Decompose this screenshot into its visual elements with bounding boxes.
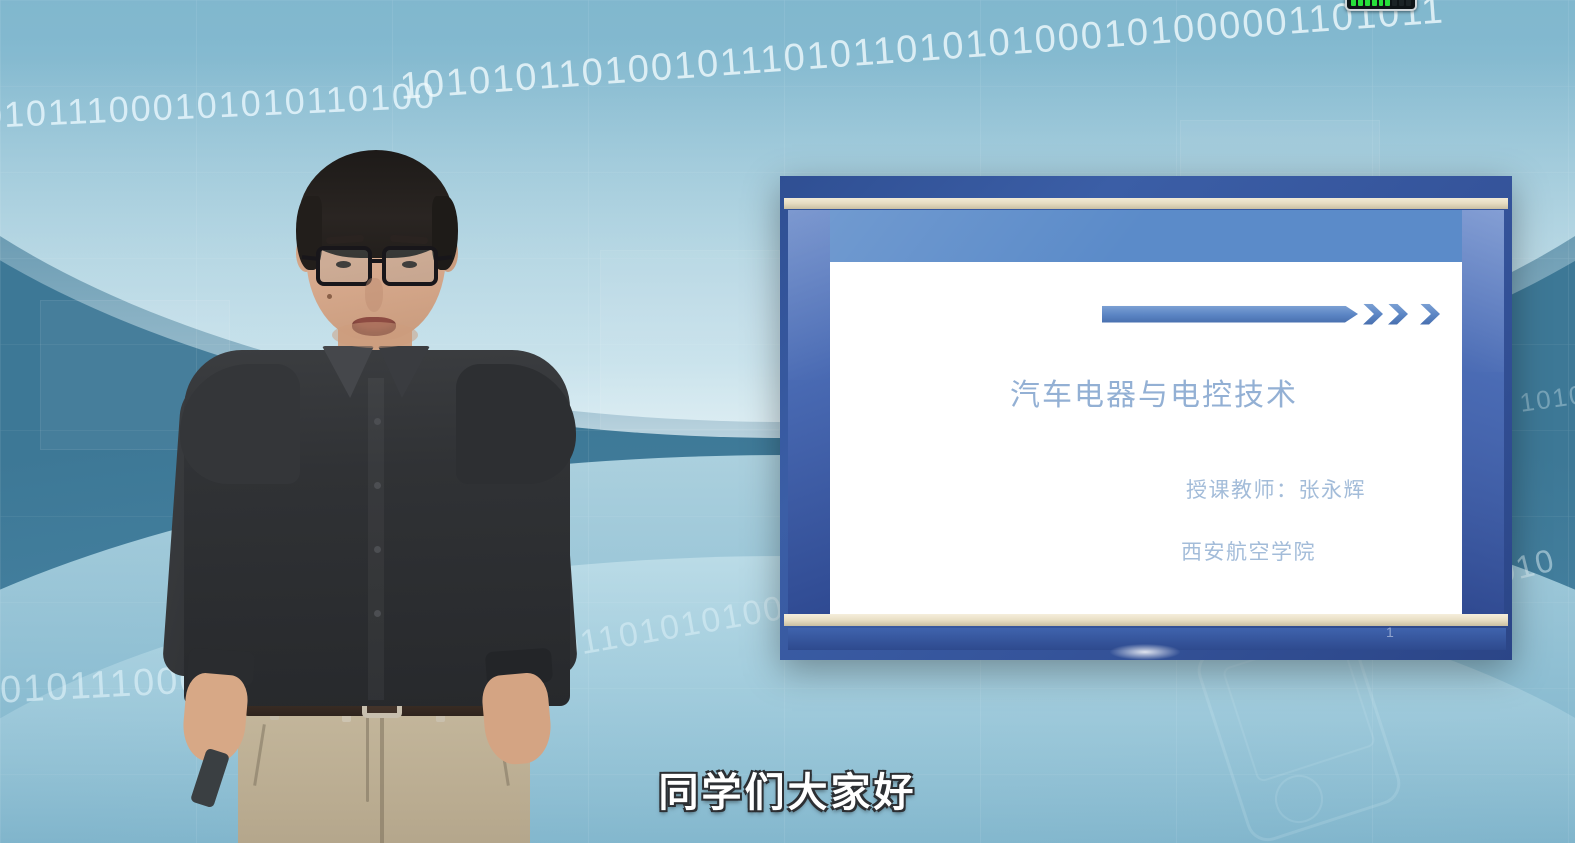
presenter-shirt-button (374, 610, 381, 617)
video-frame: 1010111000101010110100 10101011010010111… (0, 0, 1575, 843)
chevron-bar (1102, 306, 1358, 323)
subtitle-caption: 同学们大家好 (0, 760, 1575, 818)
battery-level-icon (1345, 0, 1417, 11)
presenter-shirt-placket (368, 378, 384, 700)
screen-left-pillar (788, 210, 830, 614)
slide-canvas[interactable]: 汽车电器与电控技术 授课教师：张永辉 西安航空学院 (830, 210, 1462, 614)
screen-bottom-accent-strip (784, 614, 1508, 626)
slide-page-number: 1 (1386, 624, 1394, 640)
presenter-shirt-button (374, 418, 381, 425)
presenter-figure (150, 78, 600, 843)
slide-institution: 西安航空学院 (1181, 536, 1316, 566)
presenter-chin (332, 322, 418, 348)
screen-bottom-bar (788, 628, 1506, 650)
slide-title: 汽车电器与电控技术 (830, 370, 1462, 414)
presenter-glasses-lens-right (382, 246, 438, 286)
presenter-mole (327, 294, 332, 299)
slide-header-band (830, 210, 1462, 262)
presentation-screen[interactable]: 汽车电器与电控技术 授课教师：张永辉 西安航空学院 1 (780, 176, 1512, 660)
presenter-shirt-button (374, 546, 381, 553)
presenter-nose (365, 278, 383, 312)
chevron-icon (1363, 304, 1383, 325)
backdrop-panel-block (600, 250, 780, 430)
presenter-shirt-button (374, 482, 381, 489)
presenter-glasses-bridge (370, 259, 384, 263)
chevron-icon (1388, 304, 1408, 325)
presenter-glasses-lens-left (316, 246, 372, 286)
screen-top-accent-strip (784, 198, 1508, 209)
slide-instructor: 授课教师：张永辉 (1186, 474, 1366, 504)
slide-chevron-decoration (1102, 302, 1440, 326)
screen-right-pillar (1462, 210, 1504, 614)
chevron-icon (1420, 304, 1440, 325)
